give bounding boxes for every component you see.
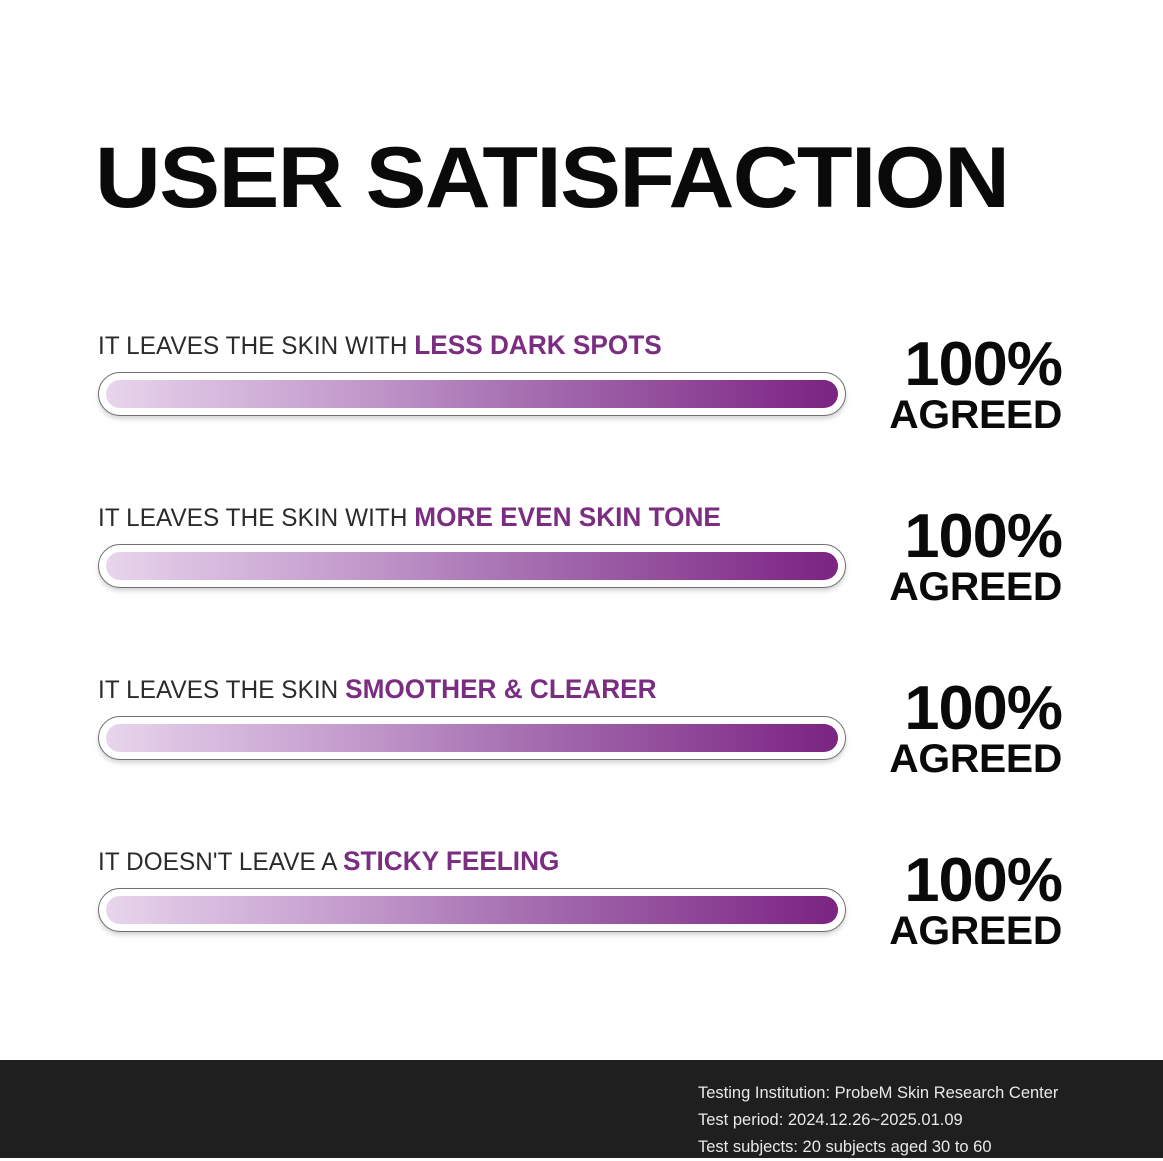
percent-value: 100% xyxy=(797,852,1062,910)
page-title: USER SATISFACTION xyxy=(95,132,1144,224)
percent-value: 100% xyxy=(797,508,1062,566)
row-label: IT DOESN'T LEAVE A STICKY FEELING xyxy=(98,846,826,877)
row-label-prefix: IT DOESN'T LEAVE A xyxy=(98,848,343,876)
row-label: IT LEAVES THE SKIN SMOOTHER & CLEARER xyxy=(98,674,826,705)
row-right-column: 100% AGREED xyxy=(802,336,1062,436)
satisfaction-row: IT DOESN'T LEAVE A STICKY FEELING 100% A… xyxy=(0,846,1163,1018)
satisfaction-row: IT LEAVES THE SKIN SMOOTHER & CLEARER 10… xyxy=(0,674,1163,846)
row-left-column: IT LEAVES THE SKIN WITH LESS DARK SPOTS xyxy=(98,330,848,416)
progress-bar-fill xyxy=(106,896,838,924)
progress-bar-track xyxy=(98,888,846,932)
row-label-prefix: IT LEAVES THE SKIN WITH xyxy=(98,504,414,532)
infographic-root: USER SATISFACTION IT LEAVES THE SKIN WIT… xyxy=(0,0,1163,1158)
row-label-prefix: IT LEAVES THE SKIN xyxy=(98,676,345,704)
satisfaction-rows: IT LEAVES THE SKIN WITH LESS DARK SPOTS … xyxy=(0,330,1163,1018)
row-label: IT LEAVES THE SKIN WITH MORE EVEN SKIN T… xyxy=(98,502,826,533)
progress-bar-fill xyxy=(106,380,838,408)
satisfaction-row: IT LEAVES THE SKIN WITH LESS DARK SPOTS … xyxy=(0,330,1163,502)
agreed-label: AGREED xyxy=(797,394,1062,436)
progress-bar-fill xyxy=(106,552,838,580)
progress-bar-track xyxy=(98,372,846,416)
row-right-column: 100% AGREED xyxy=(802,852,1062,952)
progress-bar-track xyxy=(98,716,846,760)
footer-period: Test period: 2024.12.26~2025.01.09 xyxy=(698,1107,1058,1134)
satisfaction-row: IT LEAVES THE SKIN WITH MORE EVEN SKIN T… xyxy=(0,502,1163,674)
row-label-highlight: STICKY FEELING xyxy=(343,846,559,876)
row-label-highlight: LESS DARK SPOTS xyxy=(414,330,661,360)
agreed-label: AGREED xyxy=(797,738,1062,780)
progress-bar-track xyxy=(98,544,846,588)
row-left-column: IT LEAVES THE SKIN SMOOTHER & CLEARER xyxy=(98,674,848,760)
percent-value: 100% xyxy=(797,680,1062,738)
footer-bar: Testing Institution: ProbeM Skin Researc… xyxy=(0,1060,1163,1158)
footer-text-block: Testing Institution: ProbeM Skin Researc… xyxy=(698,1080,1058,1161)
row-label-prefix: IT LEAVES THE SKIN WITH xyxy=(98,332,414,360)
row-left-column: IT DOESN'T LEAVE A STICKY FEELING xyxy=(98,846,848,932)
row-label-highlight: MORE EVEN SKIN TONE xyxy=(414,502,721,532)
footer-subjects: Test subjects: 20 subjects aged 30 to 60 xyxy=(698,1134,1058,1161)
agreed-label: AGREED xyxy=(797,910,1062,952)
row-label: IT LEAVES THE SKIN WITH LESS DARK SPOTS xyxy=(98,330,826,361)
agreed-label: AGREED xyxy=(797,566,1062,608)
row-right-column: 100% AGREED xyxy=(802,508,1062,608)
percent-value: 100% xyxy=(797,336,1062,394)
row-left-column: IT LEAVES THE SKIN WITH MORE EVEN SKIN T… xyxy=(98,502,848,588)
row-right-column: 100% AGREED xyxy=(802,680,1062,780)
row-label-highlight: SMOOTHER & CLEARER xyxy=(345,674,656,704)
progress-bar-fill xyxy=(106,724,838,752)
footer-institution: Testing Institution: ProbeM Skin Researc… xyxy=(698,1080,1058,1107)
